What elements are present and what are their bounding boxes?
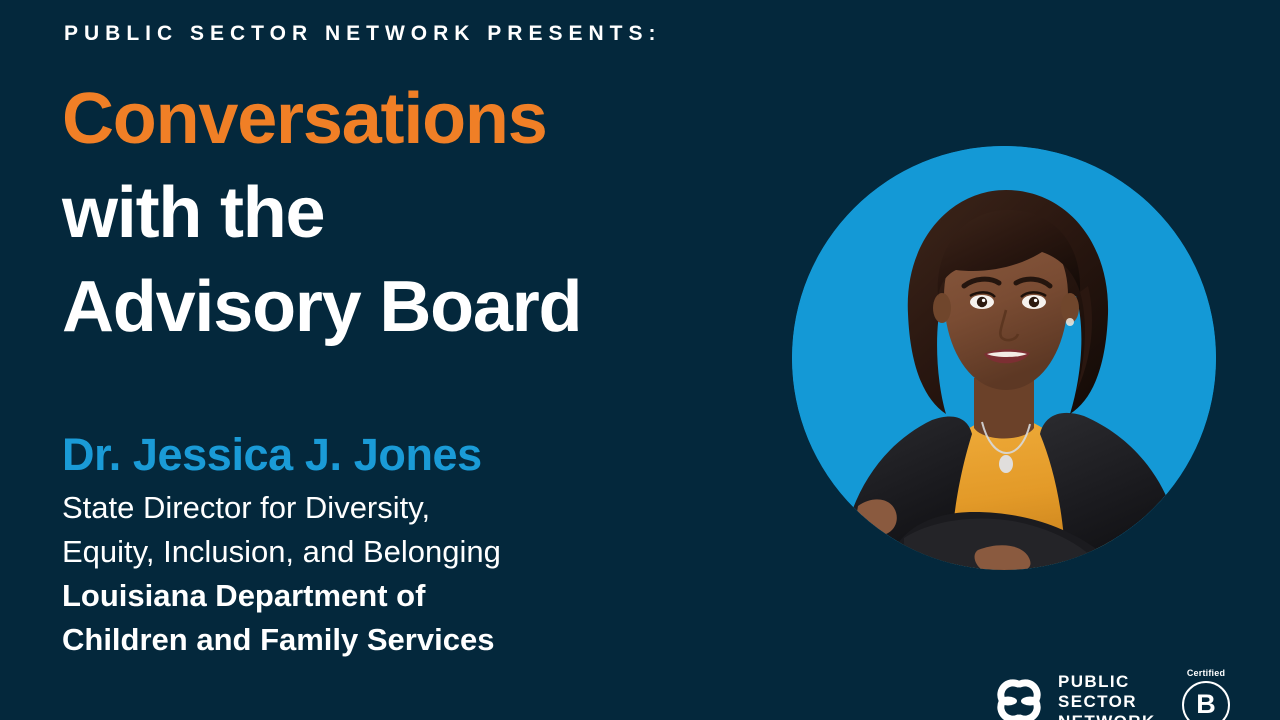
footer-branding: PUBLIC SECTOR NETWORK Certified B (988, 668, 1270, 720)
title-line-2: with the (62, 166, 762, 260)
bcorp-letter-icon: B (1182, 681, 1230, 720)
avatar (792, 146, 1216, 570)
speaker-portrait-circle (792, 146, 1216, 570)
presentation-slide: PUBLIC SECTOR NETWORK PRESENTS: Conversa… (0, 0, 1280, 720)
brand-wordmark-line-1: PUBLIC (1058, 672, 1156, 692)
speaker-name: Dr. Jessica J. Jones (62, 424, 762, 486)
bcorp-certification-badge: Certified B (1174, 668, 1238, 720)
speaker-details: Dr. Jessica J. Jones State Director for … (62, 424, 762, 662)
title-line-1: Conversations (62, 72, 762, 166)
public-sector-network-logo-icon (988, 670, 1050, 720)
bcorp-label: Certified (1174, 668, 1238, 679)
speaker-organization-line-2: Children and Family Services (62, 618, 762, 662)
speaker-role-line-2: Equity, Inclusion, and Belonging (62, 530, 762, 574)
brand-wordmark-line-3: NETWORK (1058, 712, 1156, 720)
eyebrow-text: PUBLIC SECTOR NETWORK PRESENTS: (64, 22, 661, 46)
brand-wordmark-line-2: SECTOR (1058, 692, 1156, 712)
speaker-organization-line-1: Louisiana Department of (62, 574, 762, 618)
brand-wordmark: PUBLIC SECTOR NETWORK (1058, 672, 1156, 720)
speaker-role-line-1: State Director for Diversity, (62, 486, 762, 530)
title-line-3: Advisory Board (62, 260, 762, 354)
page-title: Conversations with the Advisory Board (62, 72, 762, 354)
